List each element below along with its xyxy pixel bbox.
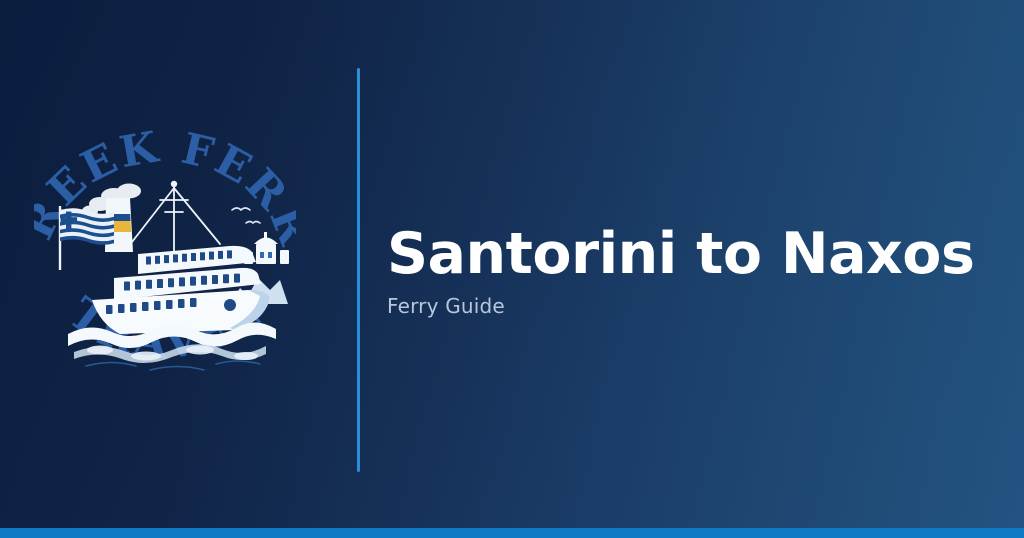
page-subtitle: Ferry Guide	[387, 293, 987, 319]
ferry-ship-icon	[92, 246, 270, 334]
logo-illustration: GREEK FERRY TRAVEL	[34, 128, 296, 388]
mast-top	[171, 181, 177, 187]
bottom-accent-bar	[0, 528, 1024, 538]
greek-flag-icon	[60, 206, 114, 270]
page-title: Santorini to Naxos	[387, 222, 987, 286]
mast-rigging	[132, 186, 220, 256]
ferry-guide-banner: GREEK FERRY TRAVEL	[0, 0, 1024, 538]
title-block: Santorini to Naxos Ferry Guide	[387, 222, 987, 319]
greek-ferry-travel-logo: GREEK FERRY TRAVEL	[34, 128, 296, 388]
vertical-divider	[357, 68, 360, 472]
